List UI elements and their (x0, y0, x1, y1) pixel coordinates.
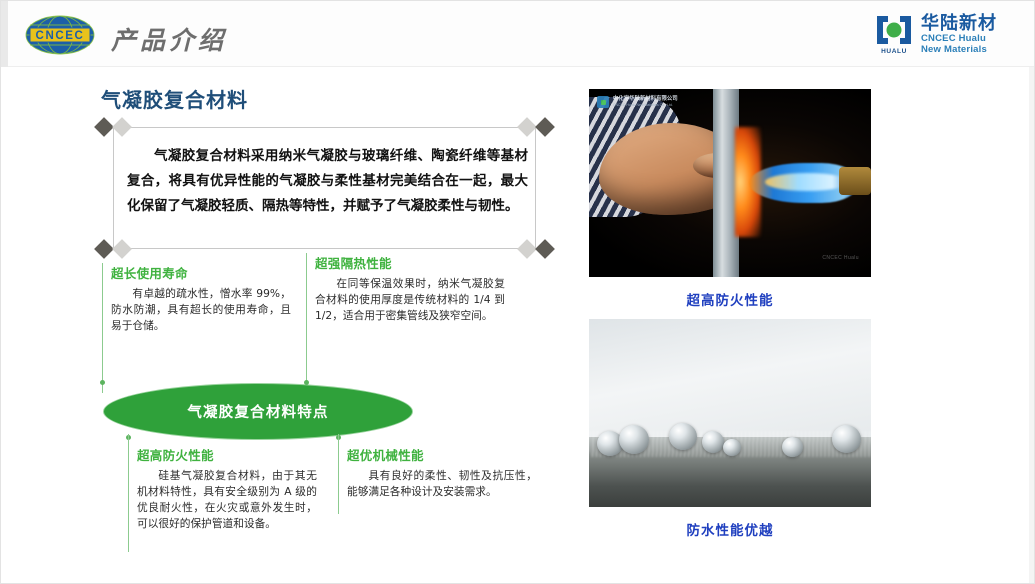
diagram-center-label: 气凝胶复合材料特点 (187, 401, 328, 422)
feature-body-mechanical: 具有良好的柔性、韧性及抗压性，能够满足各种设计及安装需求。 (347, 468, 537, 500)
feature-heading-mechanical: 超优机械性能 (347, 445, 537, 464)
feature-body-fire: 硅基气凝胶复合材料，由于其无机材料特性，具有安全级别为 A 级的优良耐火性，在火… (137, 468, 317, 532)
feature-body-life: 有卓越的疏水性，憎水率 99%，防水防潮，具有超长的使用寿命，且易于仓储。 (111, 286, 291, 334)
hualu-mark-label: HUALU (874, 48, 914, 55)
frame-right-line (535, 128, 536, 248)
hualu-en-line1: CNCEC Hualu (921, 33, 997, 44)
page-title: 产品介绍 (111, 21, 227, 57)
section-title: 气凝胶复合材料 (101, 84, 248, 113)
frame-diamond-bottom-right-dark (535, 239, 555, 259)
flame-core (765, 173, 849, 191)
slide: CNCEC 产品介绍 HUALU 华陆新材 CNCEC Hualu New Ma… (0, 0, 1035, 584)
photo-watermark: 中化学华陆新材料有限公司 CNCEC Hualu New Materials C… (597, 96, 678, 108)
water-droplet (669, 423, 697, 450)
frame-bottom-line (113, 248, 536, 249)
photo-corner-mark: CNCEC Hualu (822, 255, 859, 261)
feature-card-mechanical: 超优机械性能 具有良好的柔性、韧性及抗压性，能够满足各种设计及安装需求。 (347, 445, 537, 500)
frame-diamond-bottom-right-light (517, 239, 537, 259)
hualu-mark-icon: HUALU (874, 13, 914, 55)
frame-diamond-top-left-dark (94, 117, 114, 137)
feature-connector-insulation (306, 253, 307, 393)
torch-nozzle (839, 167, 871, 195)
panel-caption-fire: 超高防火性能 (589, 289, 871, 309)
hualu-cn-name: 华陆新材 (921, 14, 997, 33)
frame-diamond-top-right-dark (535, 117, 555, 137)
watermark-cn-text: 中化学华陆新材料有限公司 (613, 96, 678, 102)
image-panel-fire: 中化学华陆新材料有限公司 CNCEC Hualu New Materials C… (589, 89, 871, 309)
water-droplet (702, 431, 724, 453)
connector-dot-life (100, 380, 105, 385)
feature-heading-insulation: 超强隔热性能 (315, 253, 505, 272)
feature-connector-life (102, 263, 103, 393)
water-droplet (619, 425, 649, 454)
feature-card-fire: 超高防火性能 硅基气凝胶复合材料，由于其无机材料特性，具有安全级别为 A 级的优… (137, 445, 317, 532)
feature-heading-life: 超长使用寿命 (111, 263, 291, 282)
frame-diamond-bottom-left-dark (94, 239, 114, 259)
image-panel-water: 防水性能优越 (589, 319, 871, 539)
features-diagram: 超长使用寿命 有卓越的疏水性，憎水率 99%，防水防潮，具有超长的使用寿命，且易… (97, 263, 567, 563)
water-droplet (782, 437, 803, 457)
cncec-logo-icon: CNCEC (23, 14, 97, 56)
intro-paragraph: 气凝胶复合材料采用纳米气凝胶与玻璃纤维、陶瓷纤维等基材复合，将具有优异性能的气凝… (127, 144, 528, 219)
feature-card-life: 超长使用寿命 有卓越的疏水性，憎水率 99%，防水防潮，具有超长的使用寿命，且易… (111, 263, 291, 334)
frame-left-line (113, 128, 114, 248)
svg-text:CNCEC: CNCEC (36, 30, 85, 42)
water-droplet (832, 425, 861, 453)
frame-diamond-top-right-light (517, 117, 537, 137)
panel-caption-water: 防水性能优越 (589, 519, 871, 539)
frame-diamond-top-left-light (112, 117, 132, 137)
header-left-edge (1, 1, 8, 67)
diagram-center-ellipse: 气凝胶复合材料特点 (103, 383, 413, 440)
connector-dot-insulation (304, 380, 309, 385)
watermark-en-text: CNCEC Hualu New Materials Co., Ltd. (613, 103, 678, 108)
slide-right-edge (1029, 67, 1034, 583)
feature-connector-mechanical (338, 434, 339, 514)
watermark-logo-icon (597, 96, 609, 108)
feature-connector-fire (128, 434, 129, 552)
hualu-en-line2: New Materials (921, 44, 997, 55)
fire-scene (589, 89, 871, 277)
hualu-wordmark: 华陆新材 CNCEC Hualu New Materials (921, 14, 997, 55)
feature-heading-fire: 超高防火性能 (137, 445, 317, 464)
frame-diamond-bottom-left-light (112, 239, 132, 259)
feature-card-insulation: 超强隔热性能 在同等保温效果时，纳米气凝胶复合材料的使用厚度是传统材料的 1/4… (315, 253, 505, 324)
feature-body-insulation: 在同等保温效果时，纳米气凝胶复合材料的使用厚度是传统材料的 1/4 到 1/2，… (315, 276, 505, 324)
fire-test-photo: 中化学华陆新材料有限公司 CNCEC Hualu New Materials C… (589, 89, 871, 277)
hualu-logo: HUALU 华陆新材 CNCEC Hualu New Materials (874, 11, 1020, 57)
water-droplet (723, 439, 741, 456)
water-repellency-photo (589, 319, 871, 507)
slide-header: CNCEC 产品介绍 HUALU 华陆新材 CNCEC Hualu New Ma… (1, 1, 1035, 67)
intro-frame: 气凝胶复合材料采用纳米气凝胶与玻璃纤维、陶瓷纤维等基材复合，将具有优异性能的气凝… (97, 118, 552, 258)
frame-top-line (113, 127, 536, 128)
water-scene (589, 319, 871, 507)
